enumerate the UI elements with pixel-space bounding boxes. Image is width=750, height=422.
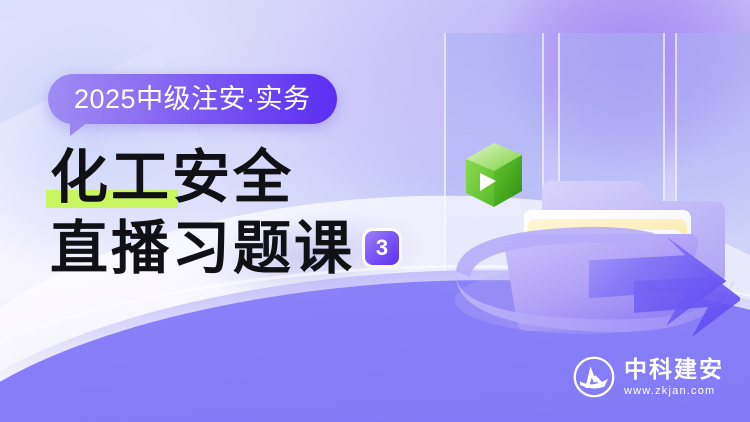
headline-line1: 化工安全 (50, 145, 294, 210)
zkjan-logo-icon (573, 356, 615, 398)
logo-website-url: www.zkjan.com (624, 386, 724, 397)
hero-illustration (420, 95, 740, 345)
episode-number-badge: 3 (365, 231, 399, 265)
brand-logo: 中科建安 www.zkjan.com (573, 356, 724, 398)
course-banner: 2025中级注安·实务 化工安全 直播习题课 3 中科建安 www.zkjan.… (0, 0, 750, 422)
badge-label: 2025中级注安·实务 (74, 86, 311, 113)
course-category-badge: 2025中级注安·实务 (48, 74, 337, 124)
logo-company-name: 中科建安 (624, 357, 724, 382)
logo-text-group: 中科建安 www.zkjan.com (624, 357, 724, 396)
badge-pill: 2025中级注安·实务 (48, 74, 337, 124)
headline-line2-wrap: 直播习题课 3 (50, 216, 399, 281)
title-block: 化工安全 直播习题课 3 (50, 145, 399, 281)
badge-tail (70, 122, 88, 136)
headline-line1-wrap: 化工安全 (50, 145, 294, 210)
headline-line2: 直播习题课 (50, 216, 355, 281)
